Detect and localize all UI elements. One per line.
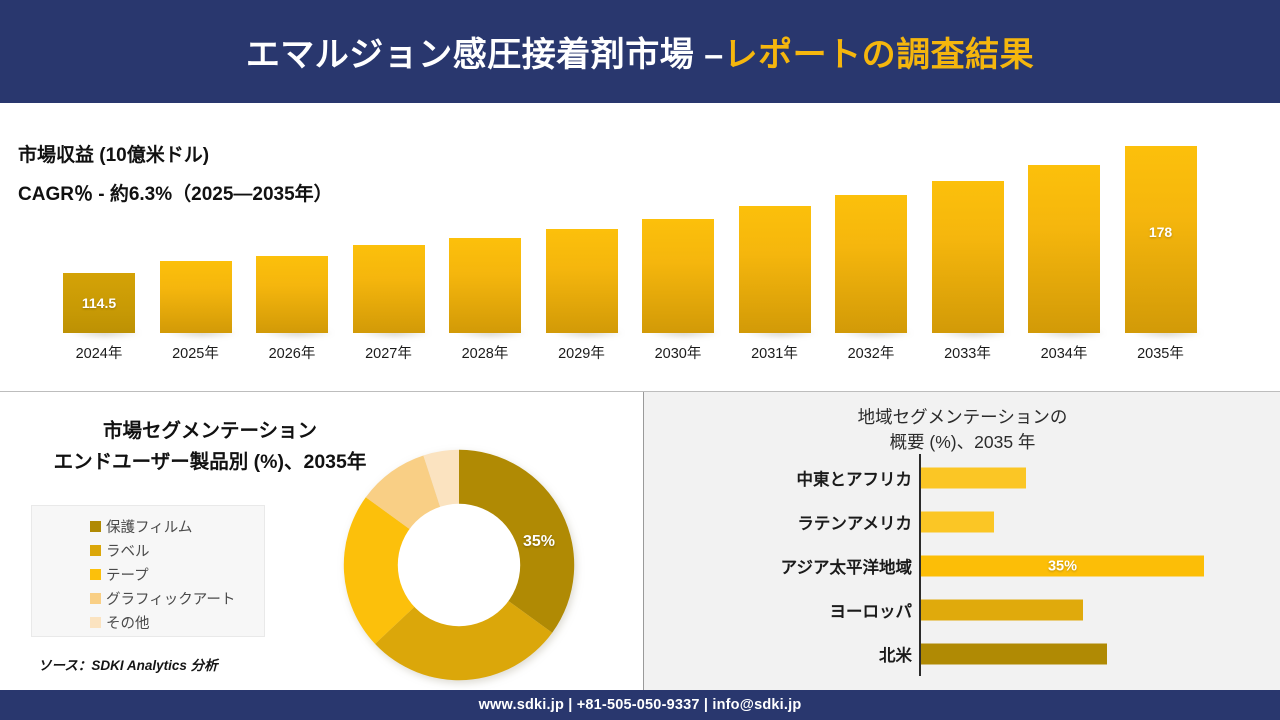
- bar-category-label: 2032年: [823, 342, 919, 363]
- bar-rect: [835, 195, 907, 333]
- regional-label: 中東とアフリカ: [797, 466, 913, 490]
- bar-rect: [1028, 165, 1100, 333]
- regional-title-line1: 地域セグメンテーションの: [644, 404, 1280, 429]
- bar-rect: [932, 181, 1004, 333]
- infographic-page: エマルジョン感圧接着剤市場 –レポートの調査結果 市場収益 (10億米ドル) C…: [0, 0, 1280, 720]
- bar-column: 2028年: [449, 238, 521, 333]
- legend-swatch-icon: [90, 521, 101, 532]
- legend-item: グラフィックアート: [32, 586, 264, 610]
- legend-item: 保護フィルム: [32, 514, 264, 538]
- regional-bar: [921, 644, 1107, 665]
- segmentation-legend: 保護フィルムラベルテープグラフィックアートその他: [31, 505, 265, 637]
- bar-column: 2027年: [353, 245, 425, 333]
- segmentation-panel: 市場セグメンテーション エンドユーザー製品別 (%)、2035年 保護フィルムラ…: [0, 392, 642, 690]
- bar-category-label: 2025年: [148, 342, 244, 363]
- legend-swatch-icon: [90, 569, 101, 580]
- bar-column: 2033年: [932, 181, 1004, 333]
- donut-svg: [333, 445, 585, 685]
- bar-column: 2032年: [835, 195, 907, 333]
- legend-item: その他: [32, 610, 264, 634]
- bar-rect: [546, 229, 618, 333]
- legend-label: その他: [106, 612, 150, 633]
- bar-rect: [449, 238, 521, 333]
- bar-column: 2026年: [256, 256, 328, 333]
- bar-category-label: 2035年: [1113, 342, 1209, 363]
- bar-column: 2025年: [160, 261, 232, 333]
- regional-row: 中東とアフリカ: [644, 456, 1280, 500]
- bar-category-label: 2033年: [920, 342, 1016, 363]
- legend-label: 保護フィルム: [106, 516, 192, 537]
- page-title: エマルジョン感圧接着剤市場 –レポートの調査結果: [246, 27, 1034, 76]
- legend-label: ラベル: [106, 540, 150, 561]
- regional-bar: [921, 600, 1083, 621]
- bar-category-label: 2027年: [341, 342, 437, 363]
- segmentation-title-line1: 市場セグメンテーション: [0, 414, 420, 443]
- regional-row: 北米: [644, 632, 1280, 676]
- donut-value-label: 35%: [523, 533, 555, 551]
- donut-hole: [398, 504, 520, 626]
- bar-category-label: 2031年: [727, 342, 823, 363]
- bar-category-label: 2028年: [437, 342, 533, 363]
- legend-item: テープ: [32, 562, 264, 586]
- regional-label: ラテンアメリカ: [797, 510, 912, 534]
- bar-column: 2031年: [739, 206, 811, 333]
- bar-column: 1782035年: [1125, 146, 1197, 333]
- regional-panel: 地域セグメンテーションの 概要 (%)、2035 年 中東とアフリカラテンアメリ…: [643, 392, 1280, 690]
- revenue-bars: 114.52024年2025年2026年2027年2028年2029年2030年…: [0, 103, 1280, 391]
- source-attribution: ソース：SDKI Analytics 分析: [38, 654, 218, 674]
- bar-value-label: 178: [1125, 224, 1197, 240]
- regional-bar-chart: 中東とアフリカラテンアメリカアジア太平洋地域35%ヨーロッパ北米: [644, 454, 1280, 684]
- regional-label: 北米: [879, 642, 912, 666]
- page-title-main: エマルジョン感圧接着剤市場 –: [246, 36, 724, 74]
- bar-category-label: 2034年: [1016, 342, 1112, 363]
- bar-column: 2029年: [546, 229, 618, 333]
- legend-label: テープ: [106, 564, 149, 585]
- regional-value-label: 35%: [921, 558, 1204, 574]
- regional-bar: [921, 512, 994, 533]
- legend-swatch-icon: [90, 593, 101, 604]
- regional-label: アジア太平洋地域: [781, 554, 912, 578]
- bar-category-label: 2024年: [51, 342, 147, 363]
- regional-bar: 35%: [921, 556, 1204, 577]
- regional-row: ラテンアメリカ: [644, 500, 1280, 544]
- bar-rect: [160, 261, 232, 333]
- regional-bar: [921, 468, 1026, 489]
- legend-label: グラフィックアート: [106, 588, 235, 609]
- bar-category-label: 2030年: [630, 342, 726, 363]
- bar-category-label: 2029年: [534, 342, 630, 363]
- regional-row: アジア太平洋地域35%: [644, 544, 1280, 588]
- footer-contact: www.sdki.jp | +81-505-050-9337 | info@sd…: [479, 697, 802, 713]
- legend-swatch-icon: [90, 617, 101, 628]
- legend-swatch-icon: [90, 545, 101, 556]
- legend-item: ラベル: [32, 538, 264, 562]
- regional-row: ヨーロッパ: [644, 588, 1280, 632]
- bar-column: 2030年: [642, 219, 714, 333]
- footer-banner: www.sdki.jp | +81-505-050-9337 | info@sd…: [0, 690, 1280, 720]
- bar-column: 114.52024年: [63, 273, 135, 333]
- regional-title-line2: 概要 (%)、2035 年: [644, 429, 1280, 454]
- bar-rect: [353, 245, 425, 333]
- bar-column: 2034年: [1028, 165, 1100, 333]
- regional-label: ヨーロッパ: [830, 598, 913, 622]
- segmentation-donut: 35%: [333, 445, 585, 685]
- bar-category-label: 2026年: [244, 342, 340, 363]
- bar-rect: [256, 256, 328, 333]
- bar-rect: [642, 219, 714, 333]
- header-banner: エマルジョン感圧接着剤市場 –レポートの調査結果: [0, 0, 1280, 103]
- page-title-accent: レポートの調査結果: [724, 36, 1035, 74]
- bar-rect: [739, 206, 811, 333]
- revenue-bar-chart: 市場収益 (10億米ドル) CAGR％ - 約6.3%（2025―2035年） …: [0, 103, 1280, 391]
- bar-value-label: 114.5: [63, 295, 135, 311]
